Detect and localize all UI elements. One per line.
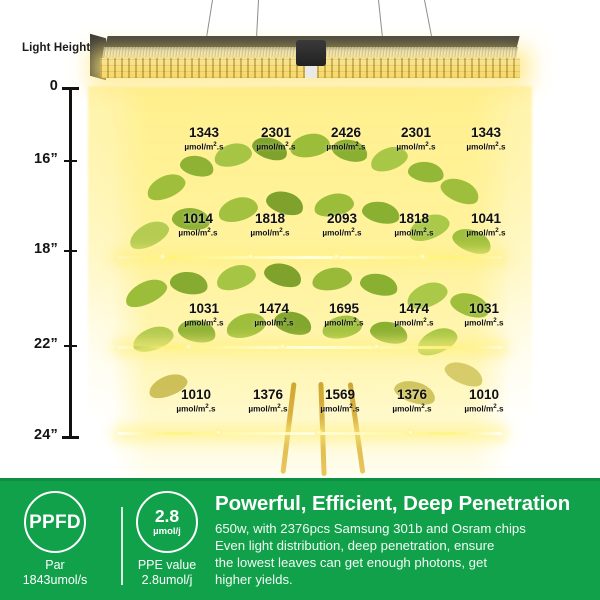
ppfd-unit: µmol/m2.s [380, 141, 452, 153]
spec-badges: PPFD Par 1843umol/s 2.8 µmol/j PPE value… [8, 491, 204, 595]
ppfd-row-16in: 1343 µmol/m2.s 2301 µmol/m2.s 2426 µmol/… [0, 126, 600, 160]
ppfd-value: 2426 [310, 126, 382, 140]
ppfd-cell: 2301 µmol/m2.s [240, 126, 312, 153]
ppfd-caption: Par 1843umol/s [8, 558, 102, 589]
axis-tick-24 [62, 436, 79, 439]
banner-body-line-1: 650w, with 2376pcs Samsung 301b and Osra… [215, 520, 593, 537]
ppfd-unit: µmol/m2.s [308, 317, 380, 329]
ppfd-cell: 1474 µmol/m2.s [238, 302, 310, 329]
ppe-ring-unit: µmol/j [153, 527, 181, 537]
feature-banner: PPFD Par 1843umol/s 2.8 µmol/j PPE value… [0, 478, 600, 600]
banner-copy: Powerful, Efficient, Deep Penetration 65… [215, 493, 593, 589]
ppfd-value: 1695 [308, 302, 380, 316]
ppfd-unit: µmol/m2.s [450, 141, 522, 153]
ppfd-unit: µmol/m2.s [168, 317, 240, 329]
ppfd-value: 1818 [378, 212, 450, 226]
ppfd-value: 1818 [234, 212, 306, 226]
ppfd-cell: 1010 µmol/m2.s [160, 388, 232, 415]
banner-body: 650w, with 2376pcs Samsung 301b and Osra… [215, 520, 593, 589]
ppfd-cell: 1343 µmol/m2.s [168, 126, 240, 153]
ppe-ring: 2.8 µmol/j [136, 491, 198, 553]
ppfd-unit: µmol/m2.s [378, 317, 450, 329]
ppfd-unit: µmol/m2.s [234, 227, 306, 239]
ppfd-cell: 1376 µmol/m2.s [232, 388, 304, 415]
ppfd-unit: µmol/m2.s [376, 403, 448, 415]
ppfd-row-24in: 1010 µmol/m2.s 1376 µmol/m2.s 1569 µmol/… [0, 388, 600, 422]
ppfd-unit: µmol/m2.s [232, 403, 304, 415]
ppfd-value: 1031 [168, 302, 240, 316]
axis-tick-label-0: 0 [38, 78, 58, 94]
ppfd-cell: 1031 µmol/m2.s [168, 302, 240, 329]
ppfd-unit: µmol/m2.s [448, 317, 520, 329]
ppfd-row-22in: 1031 µmol/m2.s 1474 µmol/m2.s 1695 µmol/… [0, 302, 600, 336]
ppfd-value: 1014 [162, 212, 234, 226]
ppfd-unit: µmol/m2.s [306, 227, 378, 239]
ppe-ring-value: 2.8 [155, 508, 179, 526]
ppfd-cell: 1010 µmol/m2.s [448, 388, 520, 415]
axis-tick-18 [64, 250, 77, 252]
ppfd-cell: 1376 µmol/m2.s [376, 388, 448, 415]
banner-body-line-3: the lowest leaves can get enough photons… [215, 554, 593, 571]
ppfd-value: 1376 [232, 388, 304, 402]
ppfd-ring: PPFD [24, 491, 86, 553]
ppfd-unit: µmol/m2.s [310, 141, 382, 153]
ppfd-ring-label: PPFD [29, 513, 81, 532]
infographic-root: Light Height 0 16” 18” 22” 24” 1343 µmol… [0, 0, 600, 600]
ppfd-unit: µmol/m2.s [448, 403, 520, 415]
ppfd-unit: µmol/m2.s [450, 227, 522, 239]
ppfd-cell: 1695 µmol/m2.s [308, 302, 380, 329]
ppfd-cell: 1031 µmol/m2.s [448, 302, 520, 329]
banner-body-line-2: Even light distribution, deep penetratio… [215, 537, 593, 554]
ppfd-row-18in: 1014 µmol/m2.s 1818 µmol/m2.s 2093 µmol/… [0, 212, 600, 246]
ppfd-cell: 1818 µmol/m2.s [234, 212, 306, 239]
ppfd-cell: 1569 µmol/m2.s [304, 388, 376, 415]
ppfd-value: 1010 [160, 388, 232, 402]
ppfd-value: 1010 [448, 388, 520, 402]
axis-tick-16 [64, 160, 77, 162]
ppfd-value: 1376 [376, 388, 448, 402]
ppfd-cell: 1041 µmol/m2.s [450, 212, 522, 239]
ppfd-value: 2301 [240, 126, 312, 140]
ppfd-unit: µmol/m2.s [160, 403, 232, 415]
ppfd-value: 1474 [238, 302, 310, 316]
ppfd-value: 1343 [450, 126, 522, 140]
ppe-caption: PPE value 2.8umol/j [120, 558, 214, 589]
ppfd-value: 1041 [450, 212, 522, 226]
axis-tick-22 [64, 345, 77, 347]
ppfd-cell: 1343 µmol/m2.s [450, 126, 522, 153]
axis-tick-0 [62, 87, 79, 90]
ppfd-cell: 2301 µmol/m2.s [380, 126, 452, 153]
ppfd-value: 1343 [168, 126, 240, 140]
ppfd-cell: 1014 µmol/m2.s [162, 212, 234, 239]
ppe-badge: 2.8 µmol/j PPE value 2.8umol/j [120, 491, 214, 589]
ppfd-unit: µmol/m2.s [240, 141, 312, 153]
ppfd-cell: 1474 µmol/m2.s [378, 302, 450, 329]
banner-headline: Powerful, Efficient, Deep Penetration [215, 493, 593, 516]
axis-tick-label-24: 24” [18, 427, 58, 443]
ppfd-value: 2093 [306, 212, 378, 226]
ppfd-diagram: Light Height 0 16” 18” 22” 24” 1343 µmol… [0, 0, 600, 478]
ppfd-value: 2301 [380, 126, 452, 140]
axis-tick-label-22: 22” [18, 336, 58, 352]
ppfd-cell: 2426 µmol/m2.s [310, 126, 382, 153]
ppfd-unit: µmol/m2.s [304, 403, 376, 415]
ppfd-value: 1474 [378, 302, 450, 316]
ppfd-unit: µmol/m2.s [168, 141, 240, 153]
banner-body-line-4: higher yields. [215, 571, 593, 588]
ppfd-unit: µmol/m2.s [162, 227, 234, 239]
ppfd-unit: µmol/m2.s [238, 317, 310, 329]
axis-title: Light Height [22, 42, 90, 54]
ppfd-cell: 2093 µmol/m2.s [306, 212, 378, 239]
ppfd-value: 1569 [304, 388, 376, 402]
ppfd-value: 1031 [448, 302, 520, 316]
ppfd-cell: 1818 µmol/m2.s [378, 212, 450, 239]
ppfd-badge: PPFD Par 1843umol/s [8, 491, 102, 589]
ppfd-unit: µmol/m2.s [378, 227, 450, 239]
